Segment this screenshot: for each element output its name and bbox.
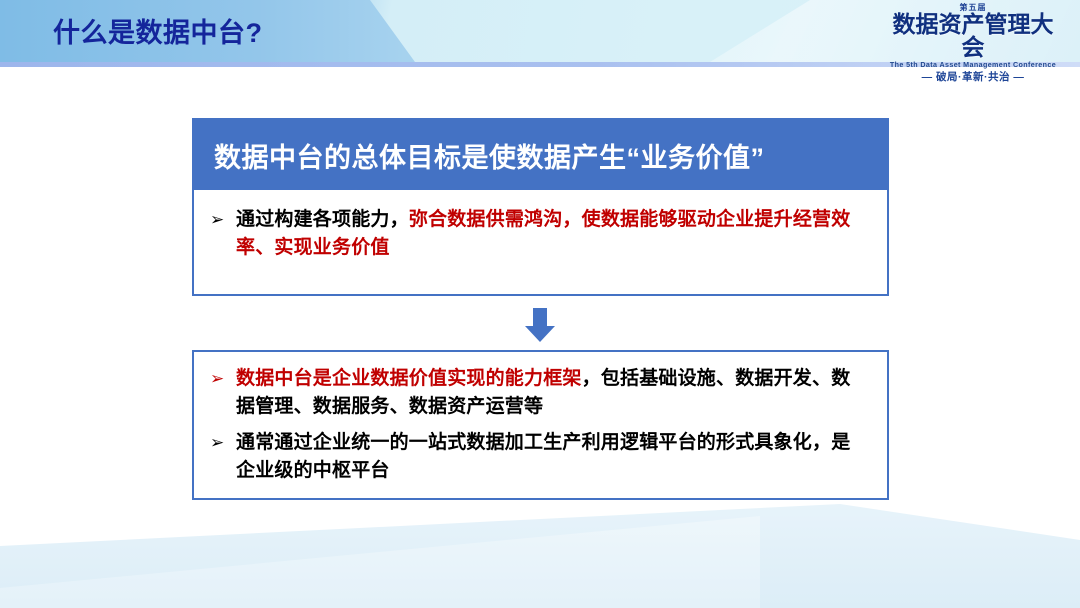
list-item-text-segment-highlight: 数据中台是企业数据价值实现的能力框架	[236, 368, 582, 389]
arrow-bullet-icon: ➢	[210, 206, 236, 234]
down-arrow-icon	[521, 306, 559, 344]
slide-canvas: 什么是数据中台? 第五届 数据资产管理大会 The 5th Data Asset…	[0, 0, 1080, 608]
page-title: 什么是数据中台?	[53, 11, 263, 50]
goal-box-banner: 数据中台的总体目标是使数据产生“业务价值”	[194, 120, 887, 190]
goal-box-banner-text: 数据中台的总体目标是使数据产生“业务价值”	[214, 136, 765, 175]
list-item: ➢ 通过构建各项能力，弥合数据供需鸿沟，使数据能够驱动企业提升经营效率、实现业务…	[210, 206, 865, 262]
logo-main-title: 数据资产管理大会	[884, 13, 1062, 60]
logo-english-title: The 5th Data Asset Management Conference	[885, 61, 1061, 68]
framework-box: ➢ 数据中台是企业数据价值实现的能力框架，包括基础设施、数据开发、数据管理、数据…	[192, 350, 889, 500]
list-item-text-segment: 通过构建各项能力，	[236, 209, 409, 230]
logo-slogan: — 破局·革新·共治 —	[884, 72, 1062, 83]
list-item: ➢ 数据中台是企业数据价值实现的能力框架，包括基础设施、数据开发、数据管理、数据…	[210, 365, 865, 421]
arrow-bullet-icon: ➢	[210, 365, 236, 393]
list-item-text: 通常通过企业统一的一站式数据加工生产利用逻辑平台的形式具象化，是企业级的中枢平台	[236, 429, 865, 485]
goal-box: 数据中台的总体目标是使数据产生“业务价值” ➢ 通过构建各项能力，弥合数据供需鸿…	[192, 118, 889, 296]
arrow-bullet-icon: ➢	[210, 429, 236, 457]
conference-logo: 第五届 数据资产管理大会 The 5th Data Asset Manageme…	[884, 4, 1062, 60]
list-item-text: 通过构建各项能力，弥合数据供需鸿沟，使数据能够驱动企业提升经营效率、实现业务价值	[236, 206, 865, 262]
list-item-text: 数据中台是企业数据价值实现的能力框架，包括基础设施、数据开发、数据管理、数据服务…	[236, 365, 865, 421]
list-item-text-segment: 通常通过企业统一的一站式数据加工生产利用逻辑平台的形式具象化，是企业级的中枢平台	[236, 432, 850, 481]
goal-box-body: ➢ 通过构建各项能力，弥合数据供需鸿沟，使数据能够驱动企业提升经营效率、实现业务…	[194, 190, 887, 272]
list-item: ➢ 通常通过企业统一的一站式数据加工生产利用逻辑平台的形式具象化，是企业级的中枢…	[210, 429, 865, 485]
